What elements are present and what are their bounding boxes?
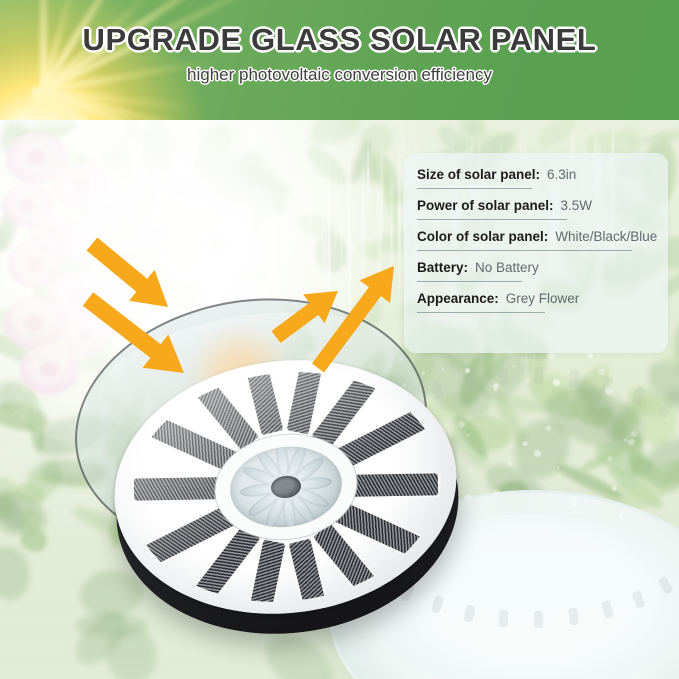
- spec-label: Appearance:: [417, 291, 499, 306]
- page-title: UPGRADE GLASS SOLAR PANEL: [83, 22, 597, 58]
- water-droplet: [571, 501, 577, 507]
- spec-row: Size of solar panel:6.3in: [404, 167, 668, 189]
- spec-divider: [417, 250, 632, 251]
- bird-bath-notch: [534, 367, 543, 384]
- water-droplet: [546, 388, 548, 390]
- pink-flower: [88, 190, 128, 224]
- pink-flower: [96, 282, 138, 318]
- bird-bath-notch: [498, 609, 508, 627]
- spec-label: Color of solar panel:: [417, 229, 548, 244]
- water-droplet: [469, 468, 474, 473]
- water-streak: [347, 138, 348, 311]
- water-streak: [361, 139, 364, 311]
- water-droplet: [619, 513, 623, 517]
- water-droplet: [464, 494, 472, 502]
- water-streak: [398, 134, 401, 313]
- header-banner: UPGRADE GLASS SOLAR PANEL higher photovo…: [0, 0, 679, 120]
- spec-value: White/Black/Blue: [555, 229, 657, 244]
- water-droplet: [465, 368, 470, 373]
- spec-row: Power of solar panel:3.5W: [404, 198, 668, 220]
- spec-divider: [417, 219, 567, 220]
- bird-bath-notch: [498, 368, 508, 386]
- foliage-leaf: [639, 124, 679, 146]
- product-marketing-image: Size of solar panel:6.3inPower of solar …: [0, 0, 679, 679]
- water-droplet: [631, 431, 637, 437]
- specs-card: Size of solar panel:6.3inPower of solar …: [404, 153, 668, 353]
- foliage-leaf: [234, 271, 269, 282]
- water-droplet: [587, 352, 593, 358]
- spec-divider: [417, 188, 532, 189]
- spec-label: Power of solar panel:: [417, 198, 554, 213]
- foliage-leaf: [202, 231, 229, 257]
- spec-label: Size of solar panel:: [417, 167, 540, 182]
- spec-divider: [417, 281, 522, 282]
- page-subtitle: higher photovoltaic conversion efficienc…: [187, 65, 492, 85]
- pink-flower: [4, 296, 66, 350]
- spec-row: Battery:No Battery: [404, 260, 668, 282]
- spec-label: Battery:: [417, 260, 468, 275]
- spec-row: Color of solar panel:White/Black/Blue: [404, 229, 668, 251]
- spec-value: Grey Flower: [506, 291, 580, 306]
- water-streak: [381, 118, 382, 261]
- water-streak: [390, 153, 393, 316]
- water-streak: [377, 132, 378, 296]
- water-droplet: [466, 434, 470, 438]
- solar-fountain-panel: [110, 355, 465, 645]
- pink-flower: [30, 214, 74, 252]
- spec-value: No Battery: [475, 260, 539, 275]
- water-streak: [303, 137, 304, 225]
- spec-row: Appearance:Grey Flower: [404, 291, 668, 313]
- spec-divider: [417, 312, 545, 313]
- water-droplet: [507, 461, 512, 466]
- water-droplet: [598, 368, 606, 376]
- bird-bath-notch: [534, 611, 543, 628]
- spec-value: 6.3in: [547, 167, 576, 182]
- water-droplet: [525, 379, 530, 384]
- spec-value: 3.5W: [561, 198, 593, 213]
- water-droplet: [605, 387, 612, 394]
- water-droplet: [512, 365, 514, 367]
- pink-flower: [20, 344, 80, 394]
- water-droplet: [628, 439, 635, 446]
- water-streak: [310, 148, 312, 257]
- water-droplet: [624, 439, 626, 441]
